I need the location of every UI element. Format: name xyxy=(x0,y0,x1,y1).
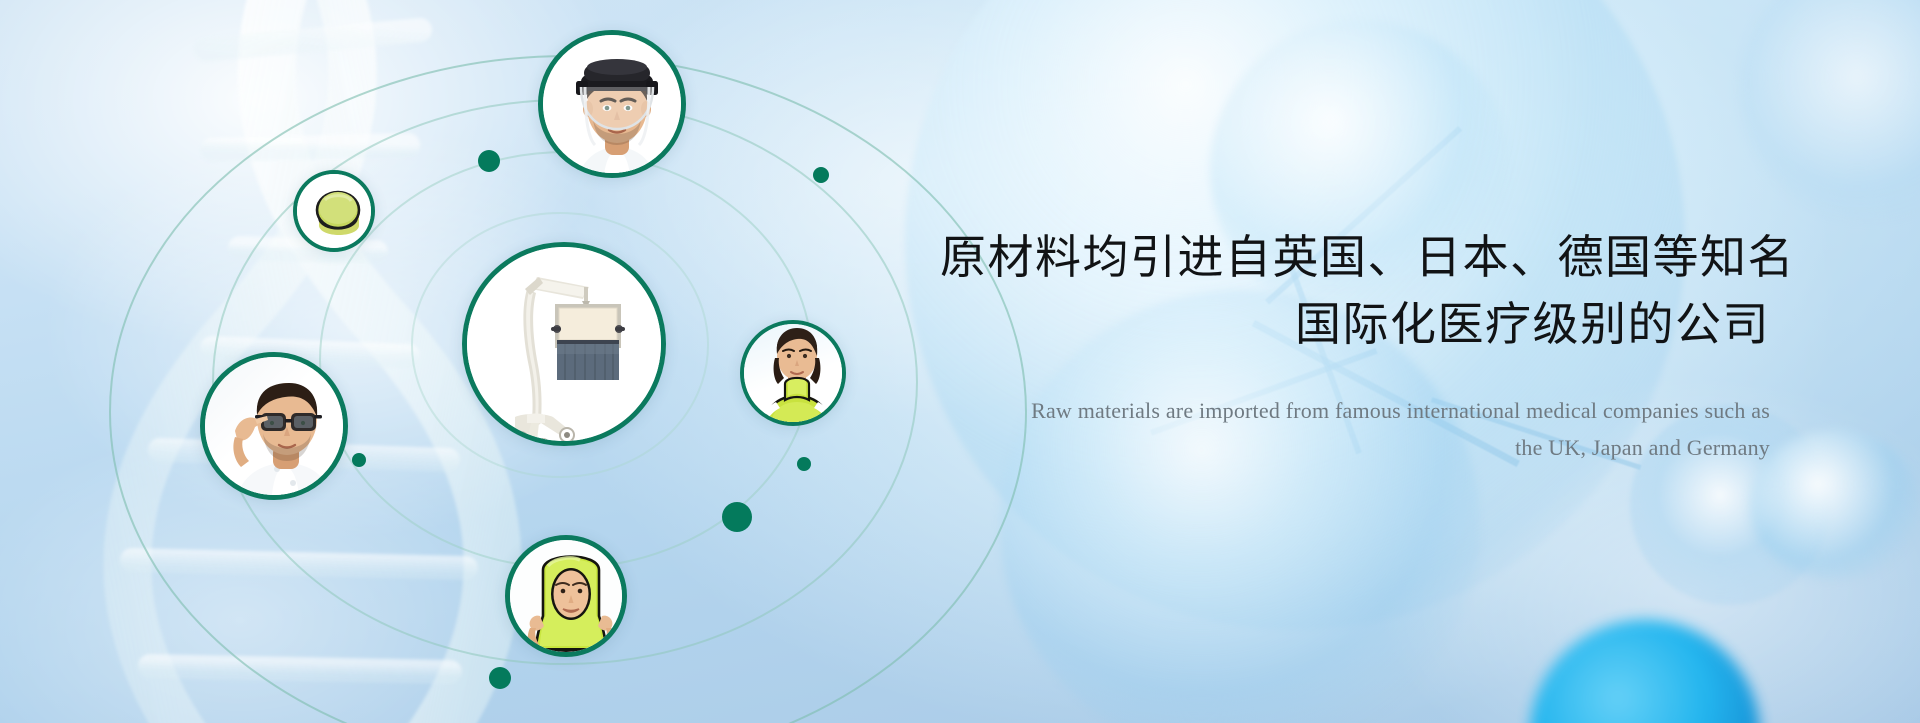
face-shield-art xyxy=(543,35,681,173)
mobile-barrier-art xyxy=(467,247,661,441)
lead-cap-art xyxy=(297,174,371,248)
thyroid-collar-art xyxy=(744,324,842,422)
orbit-node-mid-right xyxy=(797,457,811,471)
molecule-sphere-cyan-2 xyxy=(1750,430,1920,580)
bubble-protective-hood[interactable] xyxy=(505,535,627,657)
orbit-node-bottom xyxy=(489,667,511,689)
headline-line-2: 国际化医疗级别的公司 xyxy=(940,292,1770,357)
subheadline: Raw materials are imported from famous i… xyxy=(940,392,1770,468)
protective-hood-art xyxy=(510,540,622,652)
hero-text-block: 原材料均引进自英国、日本、德国等知名 国际化医疗级别的公司 Raw materi… xyxy=(940,225,1770,467)
molecule-sphere-topright xyxy=(1740,0,1920,220)
subheadline-line-1: Raw materials are imported from famous i… xyxy=(940,392,1770,430)
molecule-sphere-cyan xyxy=(1530,620,1760,723)
orbit-node-top-right xyxy=(813,167,829,183)
bubble-thyroid-collar[interactable] xyxy=(740,320,846,426)
orbit-node-top-left xyxy=(478,150,500,172)
orbit-node-large-right xyxy=(722,502,752,532)
bubble-mobile-barrier[interactable] xyxy=(462,242,666,446)
hero-banner: 原材料均引进自英国、日本、德国等知名 国际化医疗级别的公司 Raw materi… xyxy=(0,0,1920,723)
bubble-lead-glasses[interactable] xyxy=(200,352,348,500)
subheadline-line-2: the UK, Japan and Germany xyxy=(940,429,1770,467)
bubble-lead-cap[interactable] xyxy=(293,170,375,252)
lead-glasses-art xyxy=(205,357,343,495)
orbit-node-mid-left xyxy=(352,453,366,467)
bubble-face-shield[interactable] xyxy=(538,30,686,178)
headline-line-1: 原材料均引进自英国、日本、德国等知名 xyxy=(940,225,1770,290)
